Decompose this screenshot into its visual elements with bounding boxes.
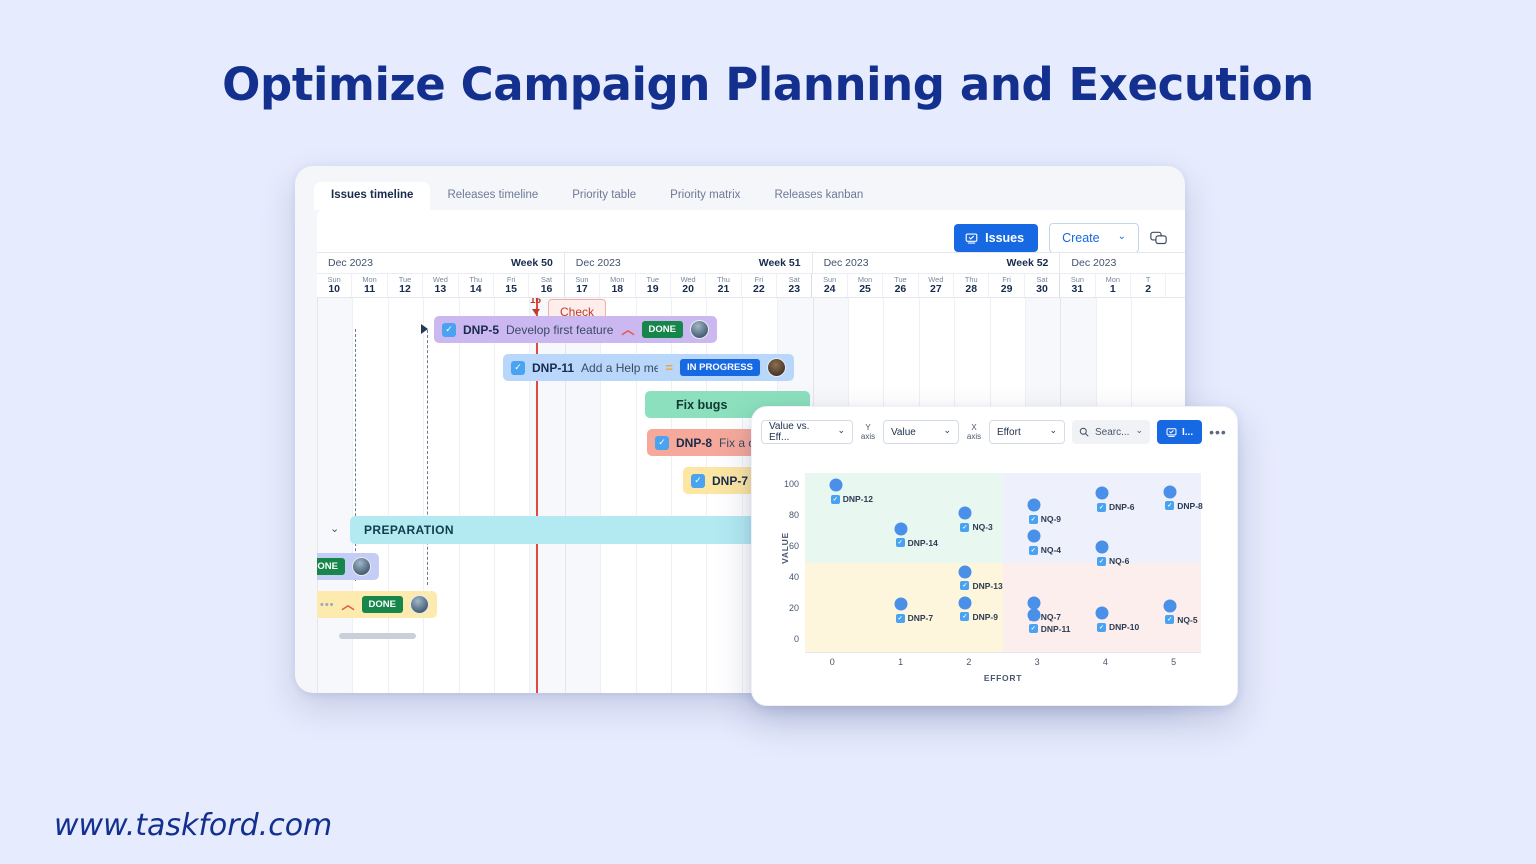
task-checkbox[interactable]: ✓: [896, 538, 905, 547]
scatter-point-key: DNP-7: [908, 613, 934, 623]
day-number: 29: [1001, 284, 1013, 295]
priority-medium-icon: =: [665, 361, 673, 374]
day-name: Mon: [362, 276, 376, 283]
y-axis-tick: 20: [769, 603, 799, 613]
monitor-icon: [1166, 427, 1177, 438]
scatter-point-key: DNP-9: [972, 612, 998, 622]
scatter-point[interactable]: [894, 522, 907, 535]
x-axis-select[interactable]: Effort ⌄: [989, 420, 1065, 444]
priority-matrix-window: Value vs. Eff... ⌄ Yaxis Value ⌄ Xaxis E…: [751, 406, 1238, 706]
status-badge: DONE: [317, 558, 345, 575]
week-month: Dec 2023: [1071, 257, 1116, 269]
scatter-point-key: NQ-9: [1041, 514, 1061, 524]
day-name: Mon: [610, 276, 624, 283]
search-input[interactable]: Searc... ⌄: [1072, 420, 1150, 444]
day-number: 10: [328, 284, 340, 295]
scatter-point-label[interactable]: ✓NQ-4: [1029, 545, 1061, 555]
x-axis-select-value: Effort: [997, 427, 1021, 438]
task-checkbox[interactable]: ✓: [1097, 557, 1106, 566]
search-input-value: Searc...: [1095, 427, 1129, 438]
day-cell: Wed27: [919, 274, 954, 297]
y-axis-select-value: Value: [891, 427, 916, 438]
scatter-point-label[interactable]: ✓DNP-11: [1029, 624, 1071, 634]
scatter-point-label[interactable]: ✓DNP-10: [1097, 622, 1139, 632]
footer-url: www.taskford.com: [54, 808, 332, 843]
day-number: 23: [788, 284, 800, 295]
issues-button-label: Issues: [985, 231, 1024, 245]
day-cell: Thu28: [954, 274, 989, 297]
day-cell: Fri22: [742, 274, 777, 297]
scatter-point[interactable]: [1027, 608, 1040, 621]
tab-bar: Issues timeline Releases timeline Priori…: [295, 178, 1185, 210]
group-label: Fix bugs: [676, 398, 727, 412]
day-cell: Fri29: [989, 274, 1024, 297]
avatar[interactable]: [352, 557, 371, 576]
scatter-point[interactable]: [959, 507, 972, 520]
task-checkbox[interactable]: ✓: [1165, 501, 1174, 510]
chevron-down-icon: ⌄: [1049, 425, 1057, 436]
task-checkbox[interactable]: ✓: [1097, 623, 1106, 632]
day-number: 14: [470, 284, 482, 295]
kebab-icon[interactable]: •••: [1209, 424, 1227, 440]
week-month: Dec 2023: [824, 257, 869, 269]
day-name: Thu: [717, 276, 730, 283]
week-cell: Dec 2023: [1060, 253, 1184, 273]
issues-button-label: I...: [1182, 427, 1193, 438]
scatter-point[interactable]: [959, 565, 972, 578]
y-axis-tick: 40: [769, 572, 799, 582]
day-cell: Sun17: [565, 274, 600, 297]
scatter-point-label[interactable]: ✓NQ-9: [1029, 514, 1061, 524]
tab-issues-timeline[interactable]: Issues timeline: [314, 182, 430, 210]
grid-line: [494, 298, 495, 693]
chevron-down-icon: ⌄: [1135, 425, 1143, 436]
day-cell: Mon1: [1096, 274, 1131, 297]
timeline-toolbar: Issues Create ⌄: [954, 223, 1167, 253]
task-title: Develop first feature: [506, 323, 613, 337]
scatter-point-key: DNP-10: [1109, 622, 1139, 632]
day-number: 1: [1110, 284, 1116, 295]
horizontal-scrollbar[interactable]: [339, 633, 416, 639]
scatter-point-label[interactable]: ✓NQ-5: [1165, 615, 1197, 625]
day-cell: Sun31: [1060, 274, 1095, 297]
scatter-point-key: NQ-6: [1109, 556, 1129, 566]
week-cell: Dec 2023 Week 50: [317, 253, 565, 273]
day-number: 12: [399, 284, 411, 295]
tab-releases-timeline[interactable]: Releases timeline: [430, 182, 555, 210]
scatter-point-label[interactable]: ✓DNP-12: [831, 494, 873, 504]
scatter-point-key: NQ-3: [972, 522, 992, 532]
group-label: PREPARATION: [364, 523, 454, 537]
create-button[interactable]: Create ⌄: [1049, 223, 1139, 253]
scatter-point-key: DNP-14: [908, 538, 938, 548]
task-checkbox[interactable]: ✓: [1097, 503, 1106, 512]
day-number: 2: [1145, 284, 1151, 295]
day-name: Sat: [789, 276, 800, 283]
create-button-label: Create: [1062, 231, 1100, 245]
day-cell: Mon25: [848, 274, 883, 297]
task-checkbox[interactable]: ✓: [691, 474, 705, 488]
scatter-point[interactable]: [1096, 541, 1109, 554]
day-name: Tue: [399, 276, 411, 283]
x-axis-label: Xaxis: [966, 423, 982, 441]
status-badge: IN PROGRESS: [680, 359, 760, 376]
task-title: Add a Help menu: [581, 361, 658, 375]
task-bar-dnp-11[interactable]: ✓ DNP-11 Add a Help menu = IN PROGRESS: [503, 354, 794, 381]
status-badge: DONE: [642, 321, 683, 338]
day-cell: Thu21: [706, 274, 741, 297]
day-number: 17: [576, 284, 588, 295]
tab-priority-table[interactable]: Priority table: [555, 182, 653, 210]
scatter-point-label[interactable]: ✓NQ-3: [960, 522, 992, 532]
day-name: Fri: [507, 276, 516, 283]
day-name: Sat: [1036, 276, 1047, 283]
day-cell: Mon18: [600, 274, 635, 297]
day-name: Thu: [469, 276, 482, 283]
grid-line: [317, 298, 318, 693]
week-cell: Dec 2023 Week 52: [813, 253, 1061, 273]
scatter-point[interactable]: [1027, 530, 1040, 543]
day-cell: Wed13: [423, 274, 458, 297]
page-title: Optimize Campaign Planning and Execution: [0, 58, 1536, 111]
scatter-point-label[interactable]: ✓NQ-6: [1097, 556, 1129, 566]
day-number: 26: [895, 284, 907, 295]
priority-high-icon: ︿: [622, 323, 635, 336]
x-axis-tick: 0: [820, 657, 844, 667]
day-name: Mon: [1106, 276, 1120, 283]
day-name: T: [1146, 276, 1151, 283]
day-cell: Sat30: [1025, 274, 1060, 297]
day-name: Sat: [541, 276, 552, 283]
scatter-point-key: DNP-6: [1109, 502, 1135, 512]
grid-line: [459, 298, 460, 693]
week-number: Week 51: [759, 257, 801, 269]
task-key: DNP-5: [463, 323, 499, 337]
day-number: 16: [541, 284, 553, 295]
scatter-point[interactable]: [894, 598, 907, 611]
chat-bubbles-icon[interactable]: [1150, 231, 1167, 246]
task-checkbox[interactable]: ✓: [960, 612, 969, 621]
task-key: DNP-7: [712, 474, 748, 488]
scatter-point-key: NQ-7: [1041, 612, 1061, 622]
day-cell: Tue12: [388, 274, 423, 297]
day-name: Wed: [681, 276, 696, 283]
task-bar-dnp-5[interactable]: ✓ DNP-5 Develop first feature ︿ DONE: [434, 316, 717, 343]
day-name: Sun: [575, 276, 588, 283]
week-number: Week 50: [511, 257, 553, 269]
day-cell: Tue19: [636, 274, 671, 297]
overflow-dots[interactable]: •••: [320, 599, 335, 611]
x-axis-tick: 1: [889, 657, 913, 667]
task-checkbox[interactable]: ✓: [1029, 546, 1038, 555]
search-icon: [1079, 427, 1089, 437]
day-number: 31: [1072, 284, 1084, 295]
scatter-point-label[interactable]: ✓DNP-9: [960, 612, 998, 622]
day-number: 30: [1036, 284, 1048, 295]
y-axis-label: Yaxis: [860, 423, 876, 441]
scatter-point[interactable]: [1027, 499, 1040, 512]
day-number: 21: [718, 284, 730, 295]
y-axis-tick: 80: [769, 510, 799, 520]
task-checkbox[interactable]: ✓: [655, 436, 669, 450]
day-number: 28: [965, 284, 977, 295]
task-checkbox[interactable]: ✓: [1165, 615, 1174, 624]
issues-button[interactable]: Issues: [954, 224, 1038, 252]
task-checkbox[interactable]: ✓: [960, 523, 969, 532]
day-name: Sun: [1071, 276, 1084, 283]
task-bar-offscreen-2[interactable]: ••• ︿ DONE: [317, 591, 437, 618]
avatar[interactable]: [410, 595, 429, 614]
task-checkbox[interactable]: ✓: [896, 614, 905, 623]
preset-select-value: Value vs. Eff...: [769, 421, 827, 443]
task-key: DNP-8: [676, 436, 712, 450]
day-cell: Sat16: [529, 274, 564, 297]
day-name: Wed: [433, 276, 448, 283]
group-caret-icon[interactable]: ⌄: [330, 522, 339, 535]
y-axis-select[interactable]: Value ⌄: [883, 420, 959, 444]
scatter-point[interactable]: [1096, 487, 1109, 500]
scatter-point-label[interactable]: ✓DNP-8: [1165, 501, 1203, 511]
day-number: 13: [435, 284, 447, 295]
x-axis-tick: 2: [957, 657, 981, 667]
task-checkbox[interactable]: ✓: [831, 495, 840, 504]
day-name: Thu: [965, 276, 978, 283]
timeline-date-header: Dec 2023 Week 50 Dec 2023 Week 51 Dec 20…: [317, 252, 1185, 298]
day-cell: T2: [1131, 274, 1166, 297]
scatter-point-key: NQ-4: [1041, 545, 1061, 555]
priority-high-icon: ︿: [342, 598, 355, 611]
grid-line: [423, 298, 424, 693]
chevron-down-icon: ⌄: [837, 425, 845, 436]
day-cell: Wed20: [671, 274, 706, 297]
chevron-down-icon: ⌄: [943, 425, 951, 436]
scatter-point[interactable]: [1164, 485, 1177, 498]
day-number: 18: [611, 284, 623, 295]
avatar[interactable]: [767, 358, 786, 377]
poster-stage: Optimize Campaign Planning and Execution…: [0, 0, 1536, 864]
week-number: Week 52: [1007, 257, 1049, 269]
day-cell: Sun24: [812, 274, 847, 297]
day-cell: Thu14: [459, 274, 494, 297]
day-name: Sun: [328, 276, 341, 283]
x-axis-line: [805, 652, 1201, 653]
scatter-point[interactable]: [959, 596, 972, 609]
today-marker-arrow: [532, 309, 540, 315]
preset-select[interactable]: Value vs. Eff... ⌄: [761, 420, 853, 444]
day-name: Sun: [823, 276, 836, 283]
scatter-plot: VALUE EFFORT ✓DNP-12✓DNP-14✓NQ-3✓DNP-13✓…: [805, 473, 1201, 652]
task-key: DNP-11: [532, 361, 574, 375]
scatter-point[interactable]: [1096, 607, 1109, 620]
status-badge: DONE: [362, 596, 403, 613]
task-bar-offscreen-1[interactable]: DONE: [317, 553, 379, 580]
day-name: Fri: [755, 276, 764, 283]
week-month: Dec 2023: [576, 257, 621, 269]
week-cell: Dec 2023 Week 51: [565, 253, 813, 273]
scatter-point-key: DNP-12: [843, 494, 873, 504]
day-number: 24: [824, 284, 836, 295]
scatter-point[interactable]: [829, 479, 842, 492]
y-axis-tick: 100: [769, 479, 799, 489]
scatter-point[interactable]: [1027, 596, 1040, 609]
day-name: Wed: [928, 276, 943, 283]
day-cell: Mon11: [352, 274, 387, 297]
scatter-point-key: DNP-8: [1177, 501, 1203, 511]
day-name: Mon: [858, 276, 872, 283]
week-month: Dec 2023: [328, 257, 373, 269]
task-checkbox[interactable]: ✓: [1029, 624, 1038, 633]
day-name: Tue: [894, 276, 906, 283]
scatter-point-key: NQ-5: [1177, 615, 1197, 625]
scatter-point[interactable]: [1164, 599, 1177, 612]
tab-releases-kanban[interactable]: Releases kanban: [757, 182, 880, 210]
y-axis-tick: 60: [769, 541, 799, 551]
today-marker-day: 16: [530, 298, 541, 306]
day-number: 11: [364, 284, 375, 295]
day-name: Fri: [1002, 276, 1011, 283]
scatter-point-label[interactable]: ✓DNP-6: [1097, 502, 1135, 512]
x-axis-tick: 3: [1025, 657, 1049, 667]
chevron-down-icon: ⌄: [1118, 231, 1126, 242]
day-number: 20: [682, 284, 694, 295]
task-checkbox[interactable]: ✓: [511, 361, 525, 375]
task-checkbox[interactable]: ✓: [1029, 515, 1038, 524]
scatter-point-label[interactable]: ✓DNP-14: [896, 538, 938, 548]
day-cell: Tue26: [883, 274, 918, 297]
day-name: Tue: [646, 276, 658, 283]
scatter-point-key: DNP-11: [1041, 624, 1071, 634]
day-number: 27: [930, 284, 942, 295]
issues-button[interactable]: I...: [1157, 420, 1202, 444]
avatar[interactable]: [690, 320, 709, 339]
x-axis-title: EFFORT: [805, 673, 1201, 683]
task-checkbox[interactable]: ✓: [960, 581, 969, 590]
day-number: 19: [647, 284, 659, 295]
y-axis-tick: 0: [769, 634, 799, 644]
week-row: Dec 2023 Week 50 Dec 2023 Week 51 Dec 20…: [317, 252, 1185, 274]
day-cell: Sun10: [317, 274, 352, 297]
day-cell: Fri15: [494, 274, 529, 297]
dependency-line: [427, 330, 428, 585]
chart-toolbar: Value vs. Eff... ⌄ Yaxis Value ⌄ Xaxis E…: [761, 419, 1228, 445]
day-row: Sun10Mon11Tue12Wed13Thu14Fri15Sat16Sun17…: [317, 274, 1185, 298]
day-number: 15: [505, 284, 517, 295]
monitor-icon: [965, 232, 978, 245]
x-axis-tick: 4: [1093, 657, 1117, 667]
scatter-point-label[interactable]: ✓DNP-13: [960, 581, 1002, 591]
day-cell: Sat23: [777, 274, 812, 297]
day-number: 22: [753, 284, 765, 295]
tab-priority-matrix[interactable]: Priority matrix: [653, 182, 757, 210]
task-checkbox[interactable]: ✓: [442, 323, 456, 337]
scatter-point-key: DNP-13: [972, 581, 1002, 591]
scatter-point-label[interactable]: ✓DNP-7: [896, 613, 934, 623]
x-axis-tick: 5: [1162, 657, 1186, 667]
day-number: 25: [859, 284, 871, 295]
